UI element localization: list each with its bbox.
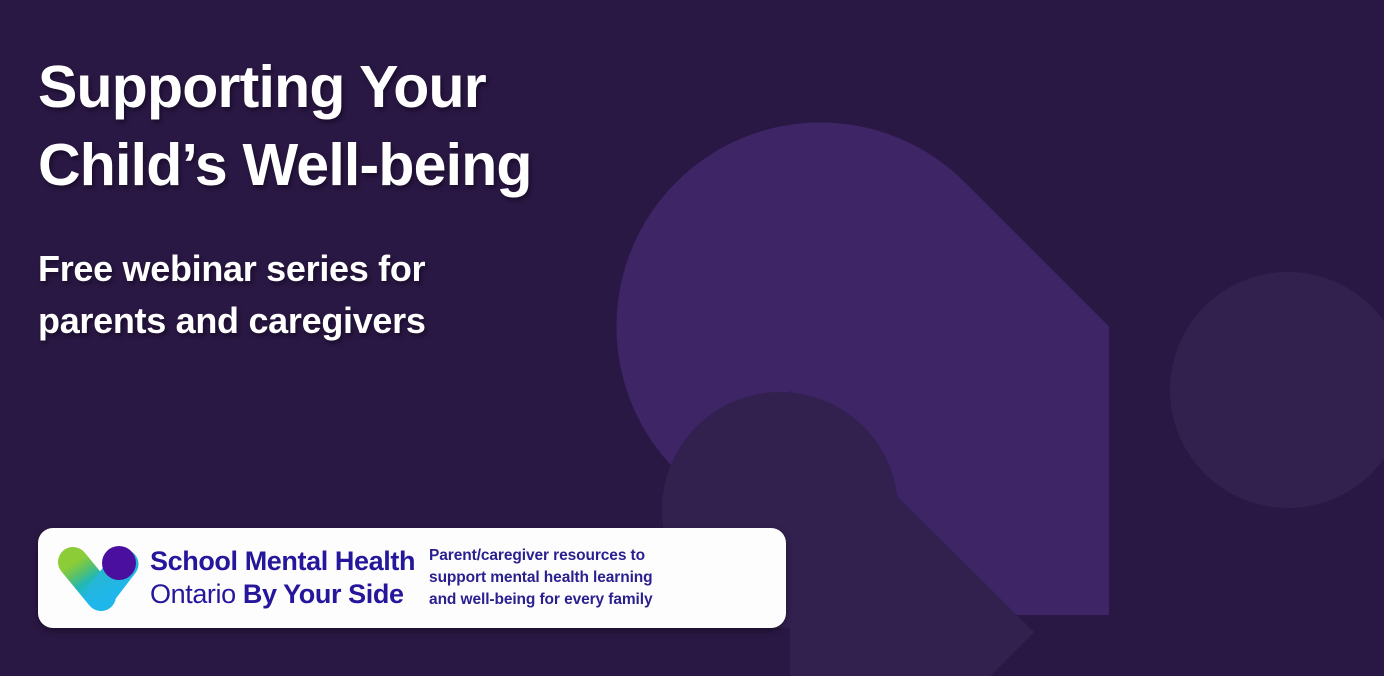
page-subtitle: Free webinar series for parents and care… xyxy=(38,243,426,347)
webinar-promo-banner: Supporting Your Child’s Well-being Free … xyxy=(0,0,1384,676)
brand-region-label: Ontario xyxy=(150,579,243,609)
brand-line-two: Ontario By Your Side xyxy=(150,578,415,611)
smho-heart-logo-icon xyxy=(56,542,140,614)
banner-content: Supporting Your Child’s Well-being Free … xyxy=(0,0,1384,676)
organization-tagline: Parent/caregiver resources to support me… xyxy=(429,545,653,611)
brand-line-one: School Mental Health xyxy=(150,545,415,578)
organization-logo-card: School Mental Health Ontario By Your Sid… xyxy=(38,528,786,628)
brand-lockup: School Mental Health Ontario By Your Sid… xyxy=(150,545,429,611)
logo-right-lobe xyxy=(102,546,136,580)
brand-slogan-label: By Your Side xyxy=(243,579,404,609)
page-title: Supporting Your Child’s Well-being xyxy=(38,48,532,205)
